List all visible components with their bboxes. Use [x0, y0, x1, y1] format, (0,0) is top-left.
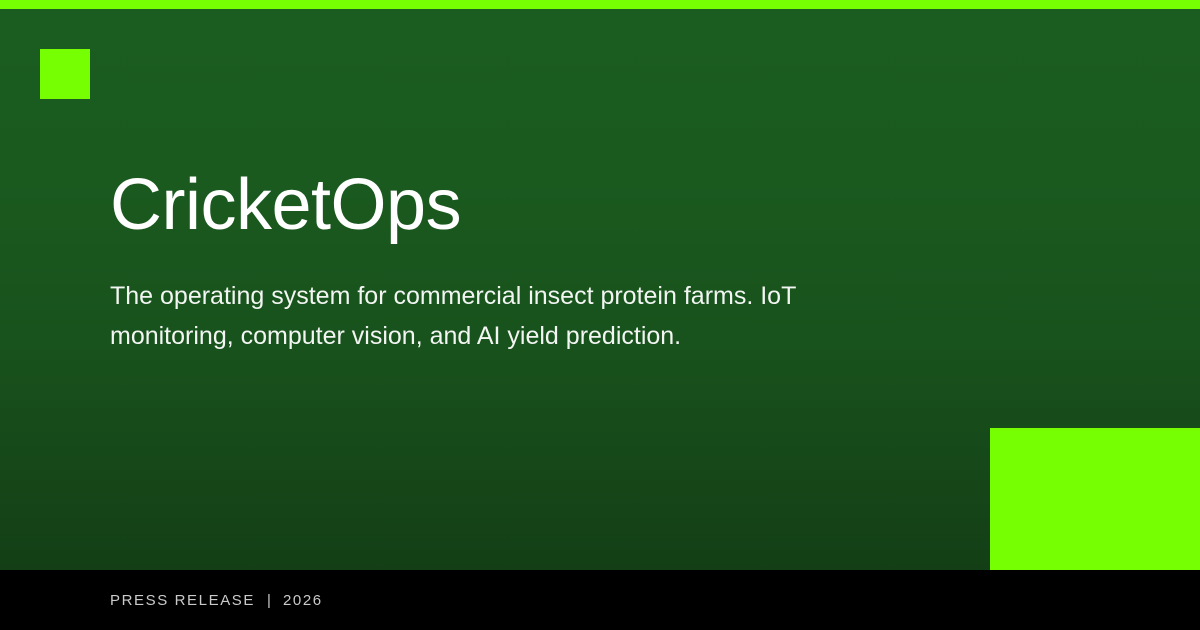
presentation-slide: CricketOps The operating system for comm…	[0, 0, 1200, 630]
slide-canvas: CricketOps The operating system for comm…	[0, 9, 1200, 570]
footer-separator: |	[255, 592, 283, 609]
footer-content: PRESS RELEASE | 2026	[110, 570, 323, 630]
text-column: CricketOps The operating system for comm…	[110, 169, 930, 356]
footer-bar: PRESS RELEASE | 2026	[0, 570, 1200, 630]
brand-mark-square	[40, 49, 90, 99]
footer-year: 2026	[283, 592, 323, 609]
top-accent-rule	[0, 0, 1200, 9]
subtitle-text: The operating system for commercial inse…	[110, 241, 910, 356]
footer-label: PRESS RELEASE	[110, 592, 255, 609]
page-title: CricketOps	[110, 169, 930, 241]
accent-block-bottom-right	[990, 428, 1200, 579]
